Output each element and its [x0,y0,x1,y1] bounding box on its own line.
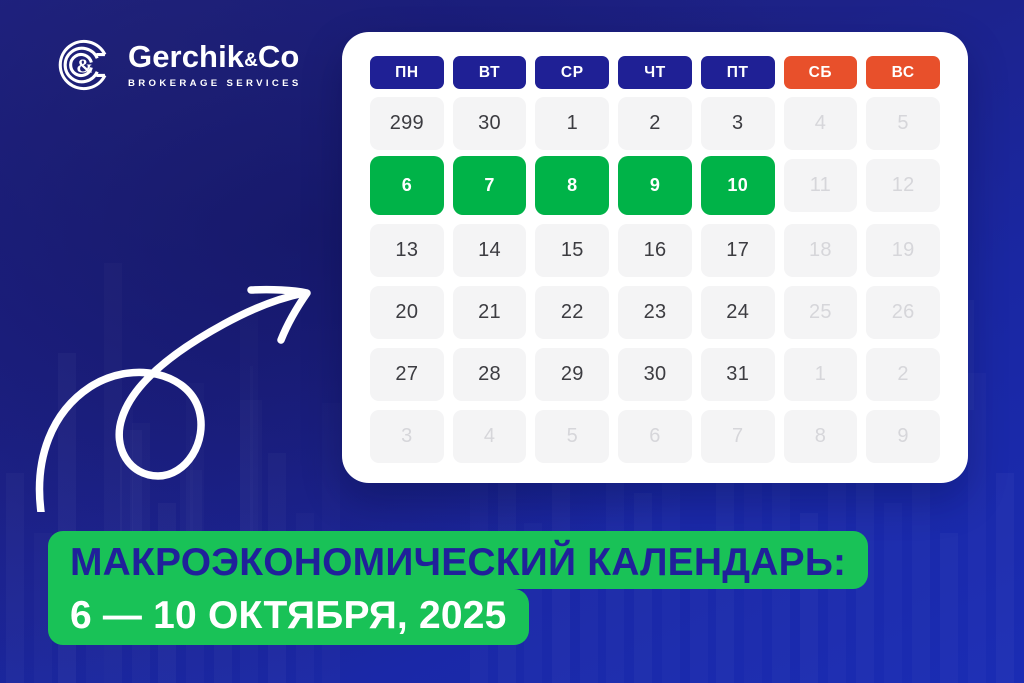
calendar-day-cell[interactable]: 3 [370,410,444,463]
brand-name: Gerchik&Co [128,41,302,73]
calendar-day-cell[interactable]: 6 [370,156,444,215]
calendar-day-cell[interactable]: 31 [701,348,775,401]
calendar-days-grid: 2993012345678910111213141516171819202122… [370,97,940,463]
headline-line2-wrap: 6 — 10 ОКТЯБРЯ, 2025 [48,589,868,645]
calendar-day-cell[interactable]: 15 [535,224,609,277]
calendar-weekday-header-1: ВТ [453,56,527,89]
svg-text:&: & [76,56,93,78]
calendar-day-cell[interactable]: 12 [866,159,940,212]
brand-name-ampersand: & [244,50,258,71]
calendar-day-cell[interactable]: 25 [784,286,858,339]
brand-logo: & Gerchik&Co BROKERAGE SERVICES [56,36,302,94]
calendar-day-cell[interactable]: 17 [701,224,775,277]
calendar-day-cell[interactable]: 6 [618,410,692,463]
brand-tagline: BROKERAGE SERVICES [128,78,302,89]
calendar-day-cell[interactable]: 5 [866,97,940,150]
calendar-day-cell[interactable]: 3 [701,97,775,150]
brand-name-suffix: Co [258,39,300,74]
calendar-day-cell[interactable]: 19 [866,224,940,277]
calendar-day-cell[interactable]: 27 [370,348,444,401]
calendar-weekday-header-0: ПН [370,56,444,89]
calendar-day-cell[interactable]: 8 [784,410,858,463]
calendar-day-cell[interactable]: 21 [453,286,527,339]
headline-line1-wrap: МАКРОЭКОНОМИЧЕСКИЙ КАЛЕНДАРЬ: [48,531,868,589]
calendar-day-cell[interactable]: 20 [370,286,444,339]
calendar-day-cell[interactable]: 9 [866,410,940,463]
headline-banner: МАКРОЭКОНОМИЧЕСКИЙ КАЛЕНДАРЬ: 6 — 10 ОКТ… [48,531,868,645]
calendar-day-cell[interactable]: 26 [866,286,940,339]
headline-line2: 6 — 10 ОКТЯБРЯ, 2025 [70,594,507,637]
calendar-day-cell[interactable]: 7 [453,156,527,215]
calendar-day-cell[interactable]: 1 [784,348,858,401]
brand-name-main: Gerchik [128,39,244,74]
calendar-day-cell[interactable]: 23 [618,286,692,339]
calendar-day-cell[interactable]: 2 [866,348,940,401]
headline-line1-bar: МАКРОЭКОНОМИЧЕСКИЙ КАЛЕНДАРЬ: [48,531,868,589]
calendar-day-cell[interactable]: 14 [453,224,527,277]
calendar-day-cell[interactable]: 29 [535,348,609,401]
calendar-weekday-header-3: ЧТ [618,56,692,89]
calendar-day-cell[interactable]: 299 [370,97,444,150]
calendar-day-cell[interactable]: 18 [784,224,858,277]
calendar-day-cell[interactable]: 28 [453,348,527,401]
calendar-day-cell[interactable]: 11 [784,159,858,212]
calendar-weekday-header-4: ПТ [701,56,775,89]
calendar-day-cell[interactable]: 2 [618,97,692,150]
calendar-day-cell[interactable]: 24 [701,286,775,339]
calendar-day-cell[interactable]: 9 [618,156,692,215]
brand-wordmark: Gerchik&Co BROKERAGE SERVICES [128,41,302,89]
calendar-weekday-header-row: ПНВТСРЧТПТСБВС [370,56,940,89]
calendar-day-cell[interactable]: 7 [701,410,775,463]
calendar-day-cell[interactable]: 13 [370,224,444,277]
calendar-weekday-header-6: ВС [866,56,940,89]
calendar-day-cell[interactable]: 10 [701,156,775,215]
calendar-day-cell[interactable]: 8 [535,156,609,215]
calendar-weekday-header-5: СБ [784,56,858,89]
calendar-day-cell[interactable]: 16 [618,224,692,277]
calendar-day-cell[interactable]: 4 [784,97,858,150]
calendar-day-cell[interactable]: 4 [453,410,527,463]
calendar-day-cell[interactable]: 1 [535,97,609,150]
headline-line2-bar: 6 — 10 ОКТЯБРЯ, 2025 [48,589,529,645]
headline-line1: МАКРОЭКОНОМИЧЕСКИЙ КАЛЕНДАРЬ: [70,541,846,584]
hand-drawn-looping-arrow-icon [28,262,328,512]
calendar-day-cell[interactable]: 22 [535,286,609,339]
calendar-card: ПНВТСРЧТПТСБВС 2993012345678910111213141… [342,32,968,483]
calendar-day-cell[interactable]: 30 [453,97,527,150]
gerchik-circle-monogram-icon: & [56,36,114,94]
calendar-day-cell[interactable]: 5 [535,410,609,463]
calendar-weekday-header-2: СР [535,56,609,89]
calendar-day-cell[interactable]: 30 [618,348,692,401]
